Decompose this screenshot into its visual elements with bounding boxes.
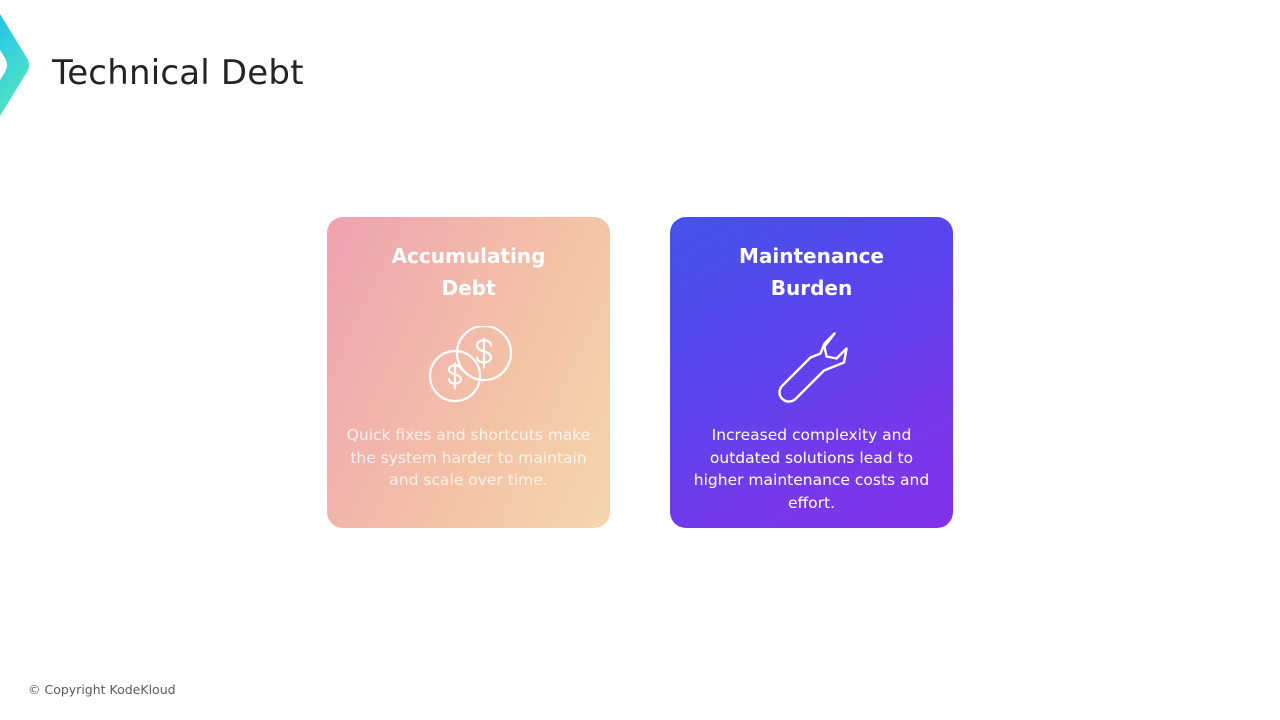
wrench-icon [770,326,854,404]
dollar-coins-icon [426,326,512,404]
card-description: Increased complexity and outdated soluti… [686,424,937,514]
card-maintenance-burden[interactable]: Maintenance Burden Increased complexity … [670,217,953,528]
slide-header: Technical Debt [0,0,1280,140]
card-title: Accumulating Debt [364,240,574,304]
chevron-right-logo-icon [0,14,48,116]
page-title: Technical Debt [52,50,304,96]
card-description: Quick fixes and shortcuts make the syste… [343,424,594,492]
card-accumulating-debt[interactable]: Accumulating Debt Quick fixes and shortc… [327,217,610,528]
concept-cards-row: Accumulating Debt Quick fixes and shortc… [327,217,953,528]
card-title: Maintenance Burden [707,240,917,304]
copyright-footer: © Copyright KodeKloud [28,682,176,698]
